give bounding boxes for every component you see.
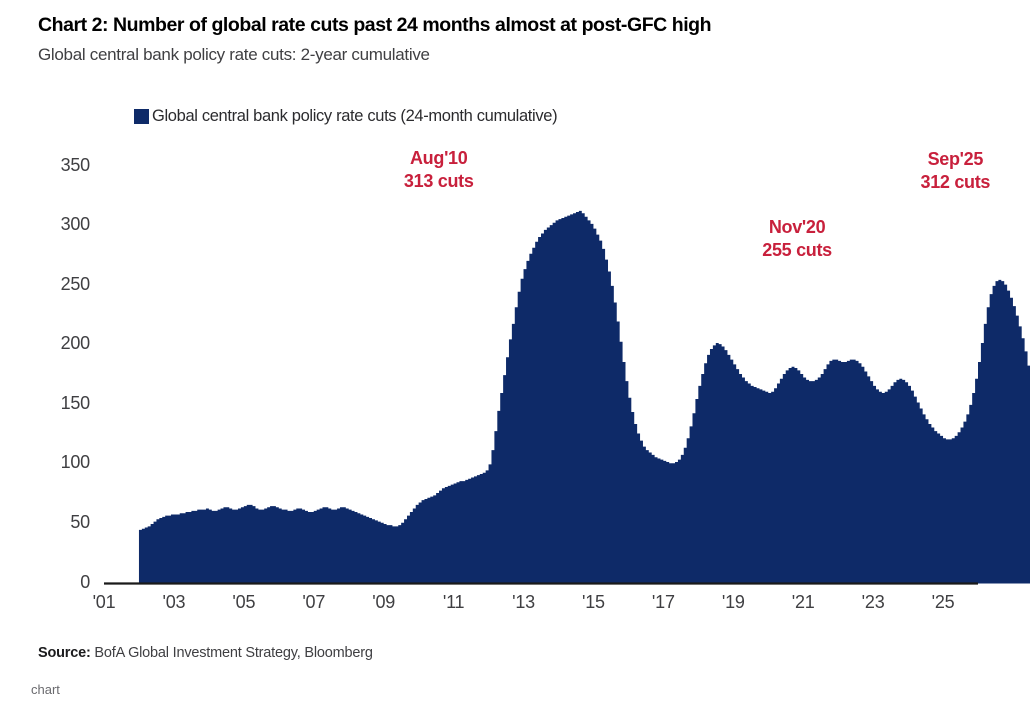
y-axis-tick-0: 0 <box>20 572 90 593</box>
x-axis-tick-25: '25 <box>913 592 973 613</box>
x-axis-tick-01: '01 <box>74 592 134 613</box>
x-axis-tick-19: '19 <box>703 592 763 613</box>
annotation-covid-peak: Nov'20255 cuts <box>762 216 832 262</box>
annotation-covid-peak-date: Nov'20 <box>762 216 832 239</box>
source-label: Source: <box>38 645 91 661</box>
y-axis-tick-250: 250 <box>20 274 90 295</box>
y-axis-tick-350: 350 <box>20 155 90 176</box>
annotation-current-value: 312 cuts <box>921 171 991 194</box>
annotation-gfc-peak: Aug'10313 cuts <box>404 147 474 193</box>
annotation-current: Sep'25312 cuts <box>921 148 991 194</box>
y-axis-tick-300: 300 <box>20 214 90 235</box>
chart-caption: chart <box>31 682 60 697</box>
y-axis-tick-100: 100 <box>20 452 90 473</box>
x-axis-tick-13: '13 <box>494 592 554 613</box>
x-axis-tick-15: '15 <box>563 592 623 613</box>
annotation-covid-peak-value: 255 cuts <box>762 239 832 262</box>
source-line: Source: BofA Global Investment Strategy,… <box>38 645 373 661</box>
x-axis-tick-23: '23 <box>843 592 903 613</box>
x-axis-tick-09: '09 <box>354 592 414 613</box>
annotation-current-date: Sep'25 <box>921 148 991 171</box>
source-text: BofA Global Investment Strategy, Bloombe… <box>91 645 373 661</box>
x-axis-tick-03: '03 <box>144 592 204 613</box>
x-axis-tick-21: '21 <box>773 592 833 613</box>
y-axis-tick-50: 50 <box>20 512 90 533</box>
chart-page: Chart 2: Number of global rate cuts past… <box>0 0 1030 709</box>
annotation-gfc-peak-value: 313 cuts <box>404 170 474 193</box>
x-axis-tick-07: '07 <box>284 592 344 613</box>
x-axis-tick-11: '11 <box>424 592 484 613</box>
y-axis-tick-150: 150 <box>20 393 90 414</box>
x-axis-tick-17: '17 <box>633 592 693 613</box>
annotation-gfc-peak-date: Aug'10 <box>404 147 474 170</box>
series-area-rate-cuts <box>139 211 1030 584</box>
x-axis-tick-05: '05 <box>214 592 274 613</box>
y-axis-tick-200: 200 <box>20 333 90 354</box>
